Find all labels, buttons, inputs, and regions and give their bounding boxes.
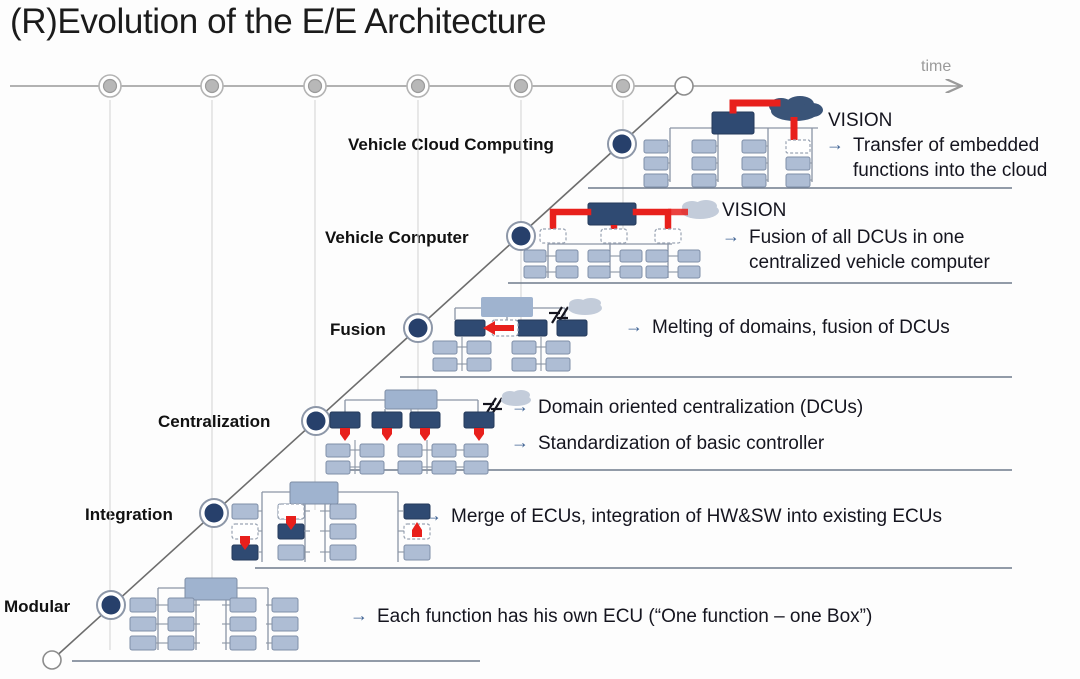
dcu-node [517,320,547,336]
gateway-node [481,297,533,317]
dcu-node [464,412,494,428]
gateway-node [385,390,437,409]
architecture-diagram-integration [232,482,430,562]
timeline-endpoint-bottom-icon [43,651,61,669]
vehicle-computer-node [712,112,754,134]
removed-ecu-placeholder [786,140,810,153]
dcu-node [557,320,587,336]
dcu-node [455,320,485,336]
evolution-diagonal-line [43,92,678,669]
dcu-node [330,412,360,428]
stage-marker-centralization[interactable] [302,407,330,435]
gateway-node [185,578,237,600]
architecture-diagram-vehicle-cloud-computing [644,96,823,187]
stage-marker-integration[interactable] [200,499,228,527]
dcu-node [372,412,402,428]
gateway-node [290,482,338,504]
removed-dcu-placeholder [601,229,627,243]
stage-marker-modular[interactable] [97,591,125,619]
removed-dcu-placeholder [540,229,566,243]
dcu-node [410,412,440,428]
vehicle-computer-node [588,203,636,225]
architecture-diagram-centralization [326,390,531,474]
stage-marker-vehicle-computer[interactable] [507,222,535,250]
red-bus-left [553,212,588,231]
architecture-diagram-fusion [433,297,602,371]
architecture-diagram-vehicle-computer [524,200,719,278]
stage-marker-vehicle-cloud-computing[interactable] [608,130,636,158]
red-down-arrows [340,428,484,441]
merged-ecu-node [404,504,430,519]
stage-marker-fusion[interactable] [404,314,432,342]
removed-dcu-placeholder [655,229,681,243]
cloud-icon [501,390,531,406]
architecture-diagram-modular [130,578,298,650]
cloud-icon [568,298,602,315]
slide-canvas: (R)Evolution of the E/E Architecture tim… [0,0,1080,679]
